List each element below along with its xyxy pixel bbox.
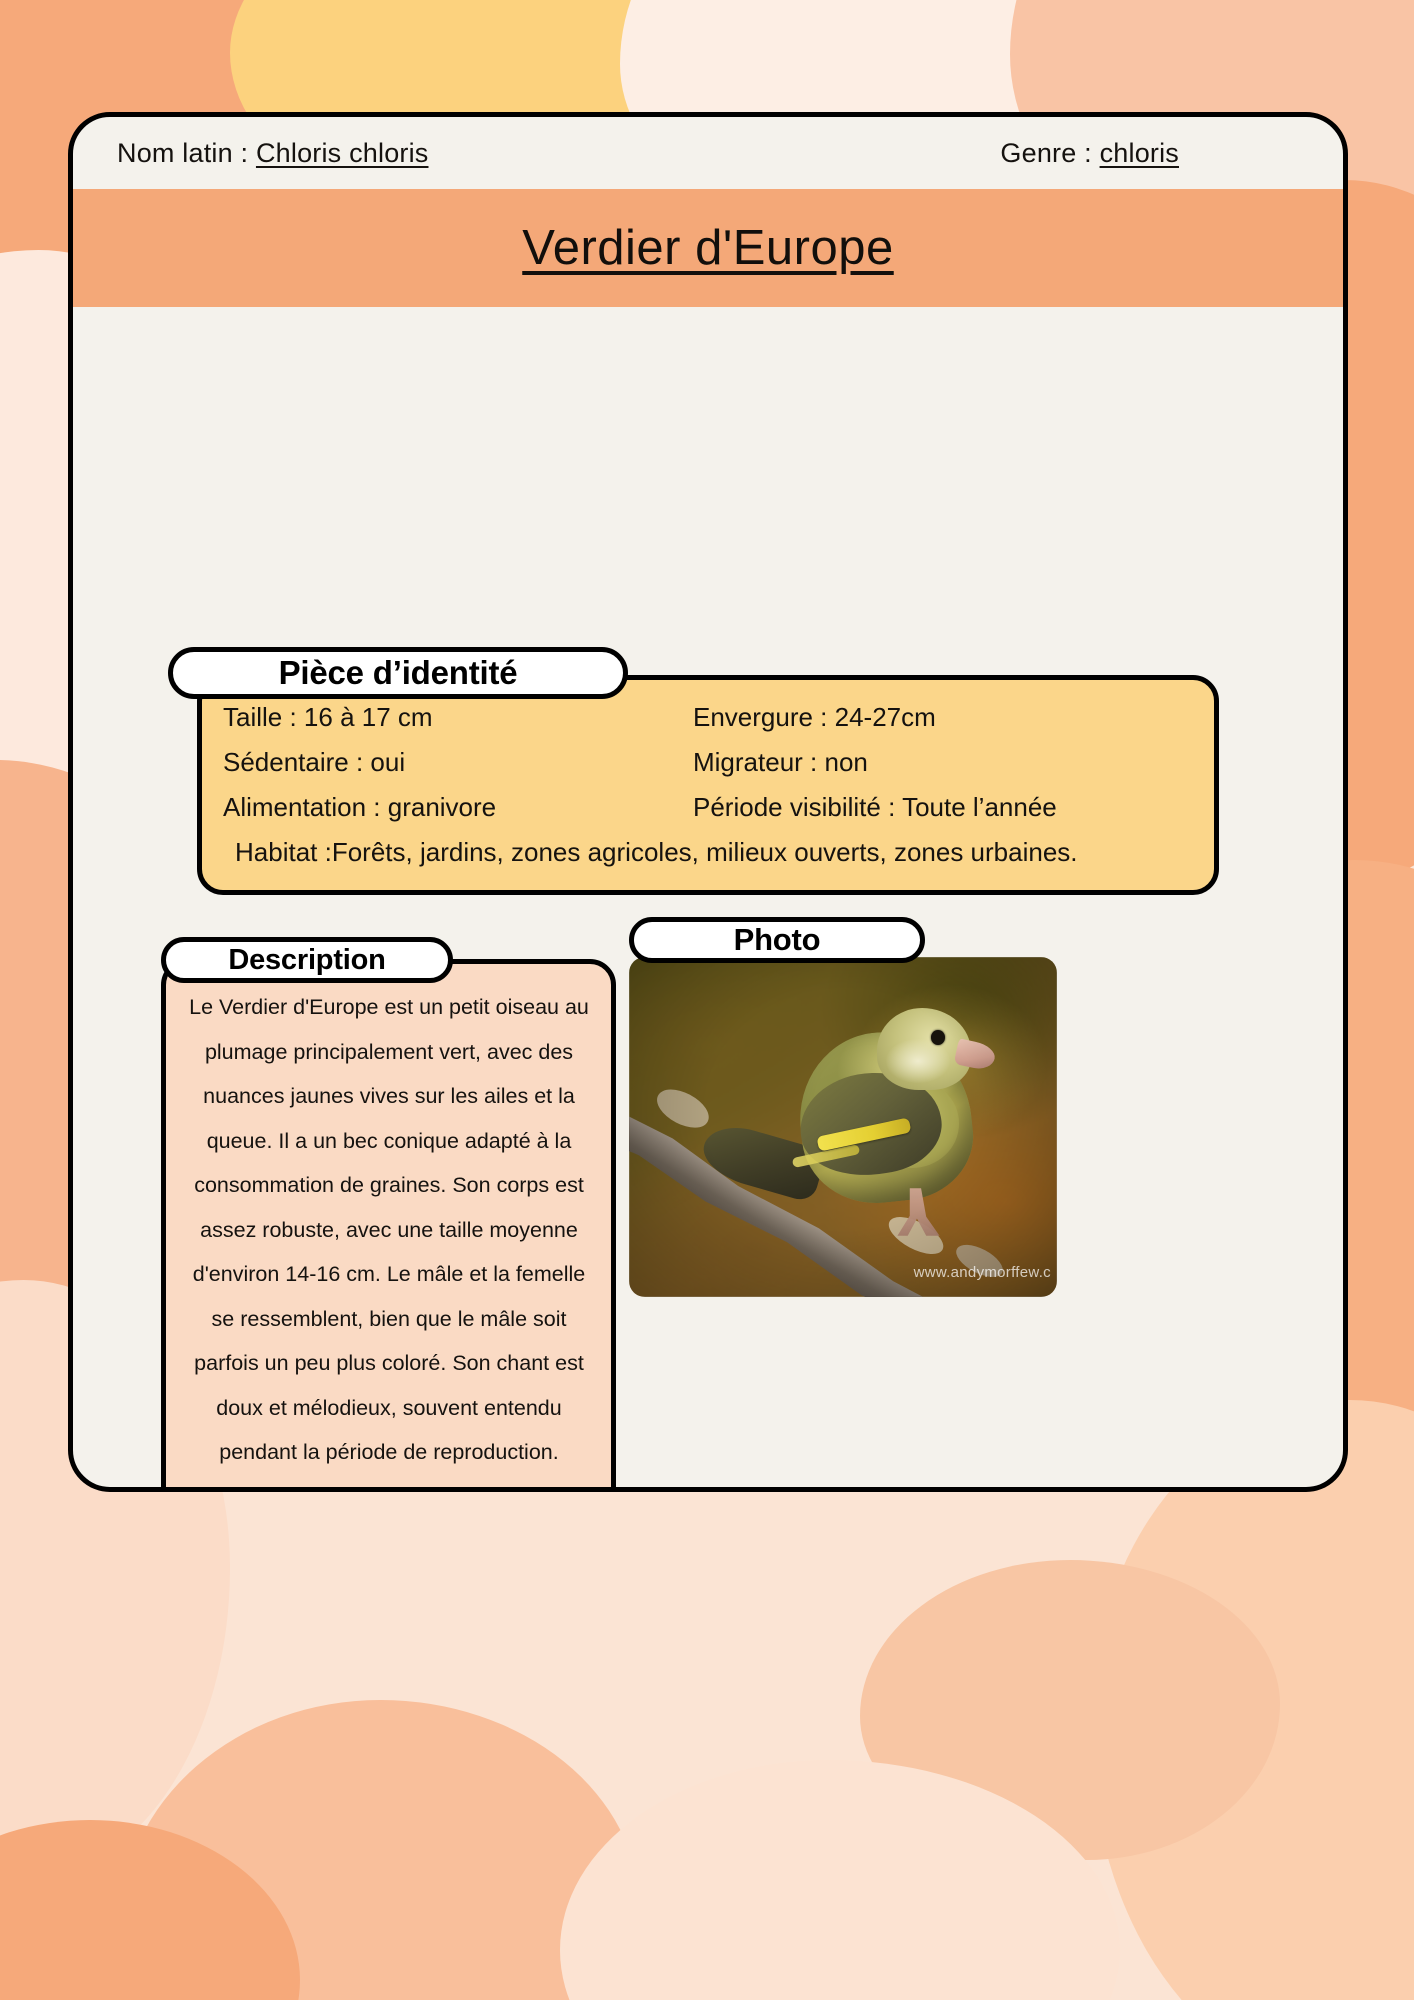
- card-meta-row: Nom latin : Chloris chloris Genre : chlo…: [73, 117, 1343, 189]
- latin-name-value: Chloris chloris: [256, 138, 429, 168]
- page-title: Verdier d'Europe: [522, 220, 893, 276]
- identity-cell: Période visibilité : Toute l’année: [693, 792, 1163, 823]
- latin-name-label: Nom latin :: [117, 138, 248, 168]
- identity-cell: Sédentaire : oui: [223, 747, 693, 778]
- genus: Genre : chloris: [1000, 138, 1299, 169]
- description-text: Le Verdier d'Europe est un petit oiseau …: [181, 985, 597, 1475]
- identity-grid: Taille : 16 à 17 cm Envergure : 24-27cm …: [223, 695, 1203, 875]
- genus-label: Genre :: [1000, 138, 1091, 168]
- genus-value: chloris: [1100, 138, 1179, 168]
- title-band: Verdier d'Europe: [73, 189, 1343, 307]
- poster-page: Nom latin : Chloris chloris Genre : chlo…: [0, 0, 1414, 2000]
- latin-name: Nom latin : Chloris chloris: [117, 138, 429, 169]
- species-card: Nom latin : Chloris chloris Genre : chlo…: [68, 112, 1348, 1492]
- description-badge: Description: [161, 937, 453, 983]
- photo-vignette: [629, 957, 1057, 1297]
- identity-row: Alimentation : granivore Période visibil…: [223, 785, 1203, 830]
- photo-badge: Photo: [629, 917, 925, 963]
- identity-cell: Alimentation : granivore: [223, 792, 693, 823]
- identity-badge: Pièce d’identité: [168, 647, 628, 699]
- identity-cell: Envergure : 24-27cm: [693, 702, 1163, 733]
- identity-cell: Migrateur : non: [693, 747, 1163, 778]
- identity-habitat: Habitat :Forêts, jardins, zones agricole…: [223, 830, 1203, 875]
- identity-row: Sédentaire : oui Migrateur : non: [223, 740, 1203, 785]
- photo-watermark: www.andymorffew.c: [914, 1264, 1051, 1281]
- identity-cell: Taille : 16 à 17 cm: [223, 702, 693, 733]
- identity-row: Taille : 16 à 17 cm Envergure : 24-27cm: [223, 695, 1203, 740]
- bird-photo: www.andymorffew.c: [629, 957, 1057, 1297]
